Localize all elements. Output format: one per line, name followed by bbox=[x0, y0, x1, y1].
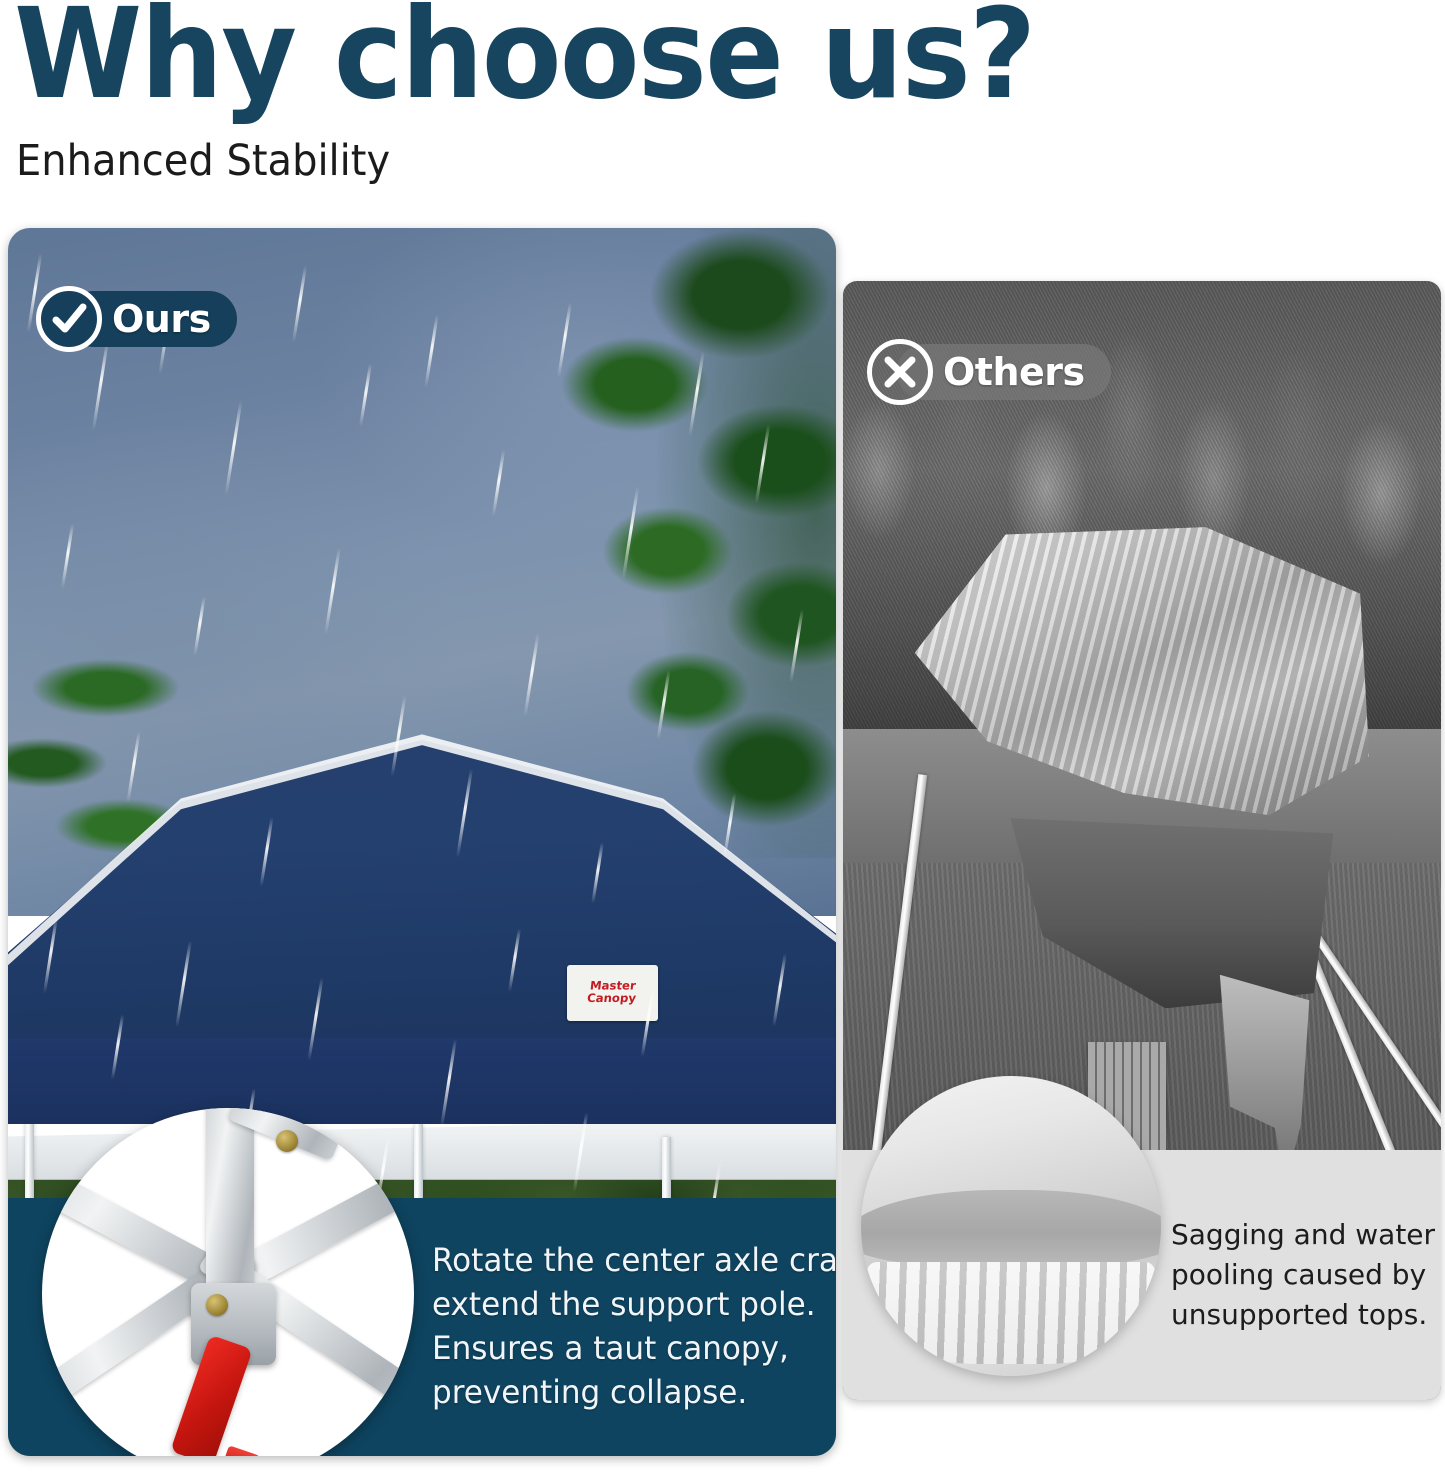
page-subtitle: Enhanced Stability bbox=[16, 136, 390, 186]
comparison-panel-ours: MasterCanopy bbox=[8, 228, 836, 1456]
ours-inset-crank-detail bbox=[42, 1108, 414, 1456]
upper-screw bbox=[276, 1130, 298, 1152]
crank-knob bbox=[221, 1445, 261, 1456]
caption-line: unsupported tops. bbox=[1171, 1295, 1433, 1335]
canopy-skirt-folds bbox=[867, 1262, 1155, 1364]
canopy-valance bbox=[8, 1038, 836, 1124]
check-circle-icon bbox=[36, 286, 102, 352]
caption-line: extend the support pole. bbox=[432, 1283, 818, 1327]
ours-caption: Rotate the center axle crank to extend t… bbox=[432, 1198, 836, 1456]
hub-screw bbox=[206, 1294, 228, 1316]
brand-logo-tag: MasterCanopy bbox=[567, 965, 658, 1021]
page-title: Why choose us? bbox=[14, 0, 1035, 117]
x-circle-icon bbox=[867, 339, 933, 405]
others-inset-sagging-detail bbox=[861, 1076, 1161, 1376]
caption-line: Ensures a taut canopy, bbox=[432, 1327, 818, 1371]
others-caption: Sagging and water pooling caused by unsu… bbox=[1171, 1150, 1433, 1400]
badge-ours: Ours bbox=[36, 286, 237, 352]
caption-line: Rotate the center axle crank to bbox=[432, 1239, 818, 1283]
center-support-pole bbox=[206, 1108, 254, 1309]
crank-handle bbox=[171, 1335, 253, 1456]
header: Why choose us? Enhanced Stability bbox=[0, 0, 1445, 220]
badge-others-label: Others bbox=[943, 350, 1085, 394]
caption-line: pooling caused by bbox=[1171, 1255, 1433, 1295]
caption-line: Sagging and water bbox=[1171, 1215, 1433, 1255]
badge-others: Others bbox=[867, 339, 1111, 405]
comparison-panel-others: Others Sagging and water pooling caused … bbox=[843, 281, 1441, 1400]
caption-line: preventing collapse. bbox=[432, 1371, 818, 1415]
palm-tree-right bbox=[536, 228, 836, 858]
sagging-fabric-pool bbox=[861, 1190, 1161, 1268]
brand-logo-text: MasterCanopy bbox=[587, 981, 638, 1006]
badge-ours-label: Ours bbox=[112, 297, 211, 341]
